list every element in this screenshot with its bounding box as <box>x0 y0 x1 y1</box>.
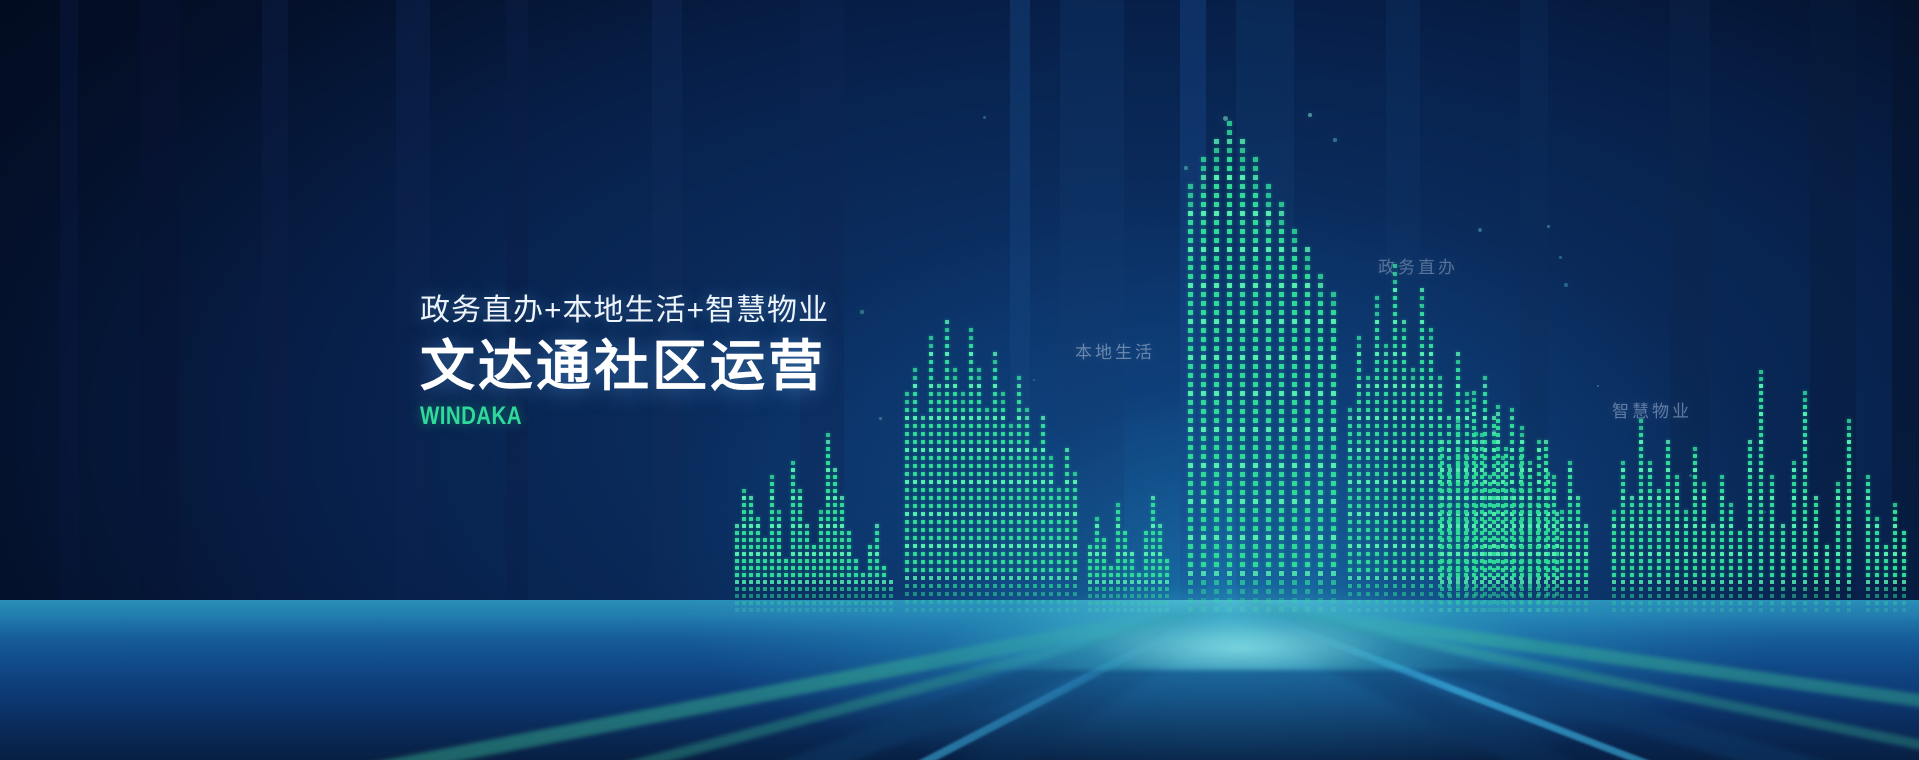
hero-main-title: 文达通社区运营 <box>420 337 829 396</box>
floating-label-smart-property: 智慧物业 <box>1612 397 1692 422</box>
brand-wordmark: WINDAKA <box>420 402 755 431</box>
perspective-ground <box>0 600 1919 760</box>
floating-label-local-life: 本地生活 <box>1075 338 1155 363</box>
hero-subtitle: 政务直办+本地生活+智慧物业 <box>420 294 829 327</box>
floating-label-government-direct: 政务直办 <box>1378 253 1458 278</box>
hero-text-block: 政务直办+本地生活+智慧物业 文达通社区运营 WINDAKA <box>420 294 829 431</box>
hero-banner: 本地生活政务直办智慧物业 政务直办+本地生活+智慧物业 文达通社区运营 WIND… <box>0 0 1919 760</box>
